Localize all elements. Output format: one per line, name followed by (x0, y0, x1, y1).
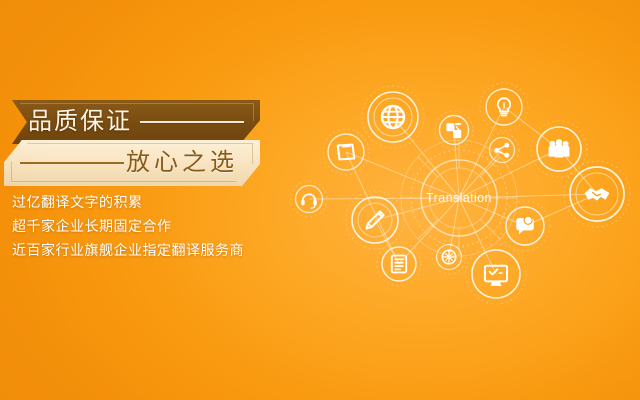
selling-points-list: 过亿翻译文字的积累 超千家企业长期固定合作 近百家行业旗舰企业指定翻译服务商 (12, 190, 312, 262)
banner-ribbon-top: 品质保证 (12, 100, 260, 144)
selling-point-2: 超千家企业长期固定合作 (12, 214, 312, 238)
node-chat (500, 201, 550, 251)
banner-rule-top (140, 121, 244, 123)
selling-point-1: 过亿翻译文字的积累 (12, 190, 312, 214)
node-handshake (564, 161, 630, 227)
node-lightbulb (480, 83, 528, 131)
node-globe (362, 86, 424, 148)
node-people-group (531, 121, 587, 177)
banner-ribbon-bottom: 放心之选 (4, 140, 260, 186)
banner-rule-bottom (20, 162, 124, 164)
translation-network-graphic: Translation (278, 72, 640, 324)
network-center-node: Translation (401, 140, 517, 256)
quality-guarantee-banner: 品质保证 放心之选 (0, 100, 272, 184)
network-center-label: Translation (426, 191, 492, 205)
node-globe-small (432, 240, 466, 274)
banner-headline-top: 品质保证 (28, 105, 132, 139)
banner-headline-bottom: 放心之选 (126, 146, 238, 180)
page-background: Translation (0, 0, 640, 400)
selling-point-3: 近百家行业旗舰企业指定翻译服务商 (12, 238, 312, 262)
